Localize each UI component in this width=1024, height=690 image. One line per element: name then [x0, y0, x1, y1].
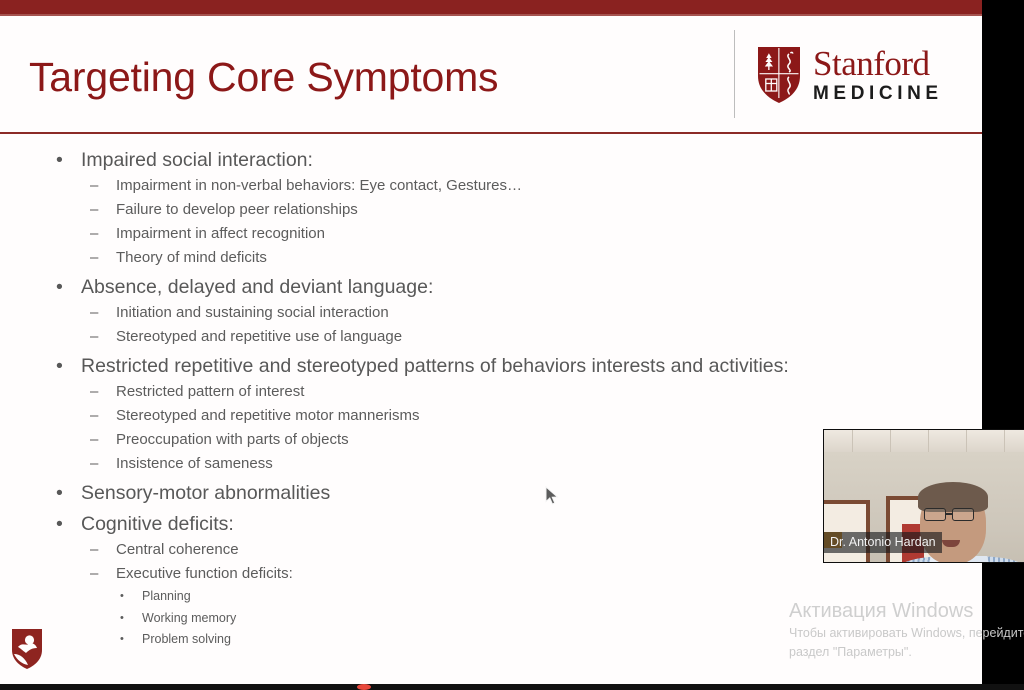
- bullet-text: Planning: [142, 589, 191, 603]
- slide-canvas: Targeting Core Symptoms: [0, 0, 982, 684]
- glasses-bridge: [946, 513, 952, 515]
- bullet-text: Central coherence: [116, 541, 239, 558]
- bullet-item-level-2: –Failure to develop peer relationships: [0, 198, 982, 222]
- wordmark-medicine: MEDICINE: [813, 83, 959, 105]
- bullet-item-level-1: •Restricted repetitive and stereotyped p…: [0, 352, 982, 380]
- ceiling-seam: [890, 430, 891, 452]
- bullet-text: Executive function deficits:: [116, 565, 293, 582]
- bullet-marker-icon: •: [56, 146, 63, 174]
- bullet-text: Impairment in non-verbal behaviors: Eye …: [116, 177, 522, 194]
- watermark-line-2: раздел "Параметры".: [789, 643, 1024, 662]
- bottom-bar: [0, 684, 1024, 690]
- slide-top-accent-bar: [0, 0, 982, 14]
- slide-title: Targeting Core Symptoms: [29, 55, 498, 100]
- windows-activation-watermark: Активация Windows Чтобы активировать Win…: [789, 598, 1024, 662]
- recording-dot-icon: [357, 684, 371, 690]
- bullet-text: Insistence of sameness: [116, 455, 273, 472]
- bullet-item-level-2: –Impairment in affect recognition: [0, 222, 982, 246]
- bullet-text: Failure to develop peer relationships: [116, 201, 358, 218]
- glasses-lens-right: [952, 508, 974, 521]
- bullet-marker-icon: –: [90, 246, 98, 270]
- bullet-marker-icon: –: [90, 428, 98, 452]
- ceiling-seam: [852, 430, 853, 452]
- bullet-marker-icon: –: [90, 538, 98, 562]
- bullet-marker-icon: –: [90, 174, 98, 198]
- bullet-item-level-2: –Executive function deficits:: [0, 562, 982, 586]
- participant-video-tile[interactable]: Dr. Antonio Hardan: [824, 430, 1024, 562]
- slide-header-rule: [0, 132, 982, 134]
- video-ceiling: [824, 430, 1024, 452]
- bullet-item-level-2: –Initiation and sustaining social intera…: [0, 301, 982, 325]
- bullet-marker-icon: •: [56, 273, 63, 301]
- glasses-lens-left: [924, 508, 946, 521]
- watermark-line-1: Чтобы активировать Windows, перейдите в: [789, 624, 1024, 643]
- bullet-item-level-2: –Stereotyped and repetitive motor manner…: [0, 404, 982, 428]
- bullet-text: Impaired social interaction:: [81, 149, 313, 171]
- stanford-wordmark: Stanford MEDICINE: [813, 45, 959, 105]
- bullet-marker-icon: –: [90, 325, 98, 349]
- bullet-marker-icon: –: [90, 198, 98, 222]
- participant-name-label: Dr. Antonio Hardan: [824, 532, 942, 553]
- bullet-marker-icon: •: [120, 586, 124, 608]
- logo-divider: [734, 30, 735, 118]
- stanford-shield-icon: [757, 46, 801, 104]
- bullet-item-level-1: •Absence, delayed and deviant language:: [0, 273, 982, 301]
- ceiling-seam: [966, 430, 967, 452]
- stanford-medicine-logo: Stanford MEDICINE: [757, 46, 959, 112]
- ceiling-seam: [1004, 430, 1005, 452]
- bullet-marker-icon: –: [90, 301, 98, 325]
- bullet-text: Initiation and sustaining social interac…: [116, 304, 389, 321]
- bullet-text: Absence, delayed and deviant language:: [81, 276, 433, 298]
- bullet-marker-icon: –: [90, 380, 98, 404]
- slide-body-bullets: •Impaired social interaction:–Impairment…: [0, 146, 982, 651]
- bullet-text: Impairment in affect recognition: [116, 225, 325, 242]
- bullet-marker-icon: •: [56, 510, 63, 538]
- presentation-screen: Targeting Core Symptoms: [0, 0, 1024, 690]
- bullet-text: Preoccupation with parts of objects: [116, 431, 349, 448]
- slide-top-accent-underline: [0, 14, 982, 16]
- bullet-item-level-1: •Impaired social interaction:: [0, 146, 982, 174]
- bullet-marker-icon: –: [90, 562, 98, 586]
- bullet-item-level-2: –Stereotyped and repetitive use of langu…: [0, 325, 982, 349]
- bullet-marker-icon: –: [90, 222, 98, 246]
- bullet-text: Working memory: [142, 611, 236, 625]
- bullet-text: Stereotyped and repetitive use of langua…: [116, 328, 402, 345]
- bullet-text: Restricted pattern of interest: [116, 383, 304, 400]
- bullet-marker-icon: –: [90, 452, 98, 476]
- packard-childrens-shield-icon: [10, 628, 44, 670]
- ceiling-seam: [928, 430, 929, 452]
- bullet-marker-icon: –: [90, 404, 98, 428]
- bullet-marker-icon: •: [120, 629, 124, 651]
- bullet-item-level-2: –Restricted pattern of interest: [0, 380, 982, 404]
- bullet-text: Stereotyped and repetitive motor manneri…: [116, 407, 419, 424]
- bullet-marker-icon: •: [56, 479, 63, 507]
- bullet-text: Sensory-motor abnormalities: [81, 482, 330, 504]
- wordmark-stanford: Stanford: [813, 45, 959, 83]
- bullet-marker-icon: •: [120, 608, 124, 630]
- bullet-text: Cognitive deficits:: [81, 513, 234, 535]
- bullet-text: Restricted repetitive and stereotyped pa…: [81, 355, 789, 377]
- watermark-title: Активация Windows: [789, 598, 1024, 624]
- bullet-text: Theory of mind deficits: [116, 249, 267, 266]
- arrow-cursor-icon: [545, 486, 559, 505]
- bullet-item-level-2: –Theory of mind deficits: [0, 246, 982, 270]
- bullet-text: Problem solving: [142, 632, 231, 646]
- bullet-item-level-2: –Impairment in non-verbal behaviors: Eye…: [0, 174, 982, 198]
- bullet-marker-icon: •: [56, 352, 63, 380]
